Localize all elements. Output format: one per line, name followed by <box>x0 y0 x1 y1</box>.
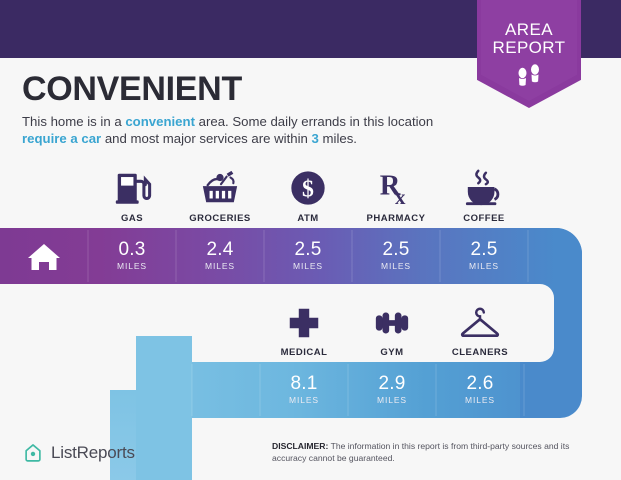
disclaimer: DISCLAIMER: The information in this repo… <box>272 441 602 464</box>
footprints-icon <box>514 61 544 91</box>
category-medical: MEDICAL <box>260 300 348 358</box>
badge-line-1: AREA <box>477 20 581 40</box>
disclaimer-label: DISCLAIMER: <box>272 441 328 451</box>
category-label: ATM <box>264 213 352 224</box>
medical-cross-icon <box>260 300 348 342</box>
dollar-coin-icon: $ <box>264 166 352 208</box>
ribbon-upper-band <box>0 228 556 284</box>
category-gym: GYM <box>348 300 436 358</box>
clothes-hanger-icon <box>436 300 524 342</box>
svg-text:$: $ <box>302 177 314 203</box>
category-label: GAS <box>88 213 176 224</box>
badge-line-2: REPORT <box>477 38 581 58</box>
home-marker <box>22 240 66 274</box>
grocery-basket-icon <box>176 166 264 208</box>
logo-text: ListReports <box>51 443 135 463</box>
category-label: PHARMACY <box>352 213 440 224</box>
category-atm: $ ATM <box>264 166 352 224</box>
category-label: GROCERIES <box>176 213 264 224</box>
category-coffee: COFFEE <box>440 166 528 224</box>
dumbbell-icon <box>348 300 436 342</box>
category-gas: GAS <box>88 166 176 224</box>
category-label: COFFEE <box>440 213 528 224</box>
area-report-badge: AREA REPORT <box>477 0 581 108</box>
rx-icon: R x <box>352 166 440 208</box>
category-groceries: GROCERIES <box>176 166 264 224</box>
svg-text:x: x <box>395 185 406 208</box>
category-label: CLEANERS <box>436 347 524 358</box>
listreports-house-icon <box>22 442 44 464</box>
house-icon <box>22 240 66 274</box>
category-cleaners: CLEANERS <box>436 300 524 358</box>
area-report-infographic: 15 ARAGON ROAD, ARAGON, GA 30104 AREA RE… <box>0 0 621 480</box>
category-label: MEDICAL <box>260 347 348 358</box>
listreports-logo[interactable]: ListReports <box>22 442 135 464</box>
category-label: GYM <box>348 347 436 358</box>
gas-pump-icon <box>88 166 176 208</box>
category-pharmacy: R x PHARMACY <box>352 166 440 224</box>
coffee-cup-icon <box>440 166 528 208</box>
